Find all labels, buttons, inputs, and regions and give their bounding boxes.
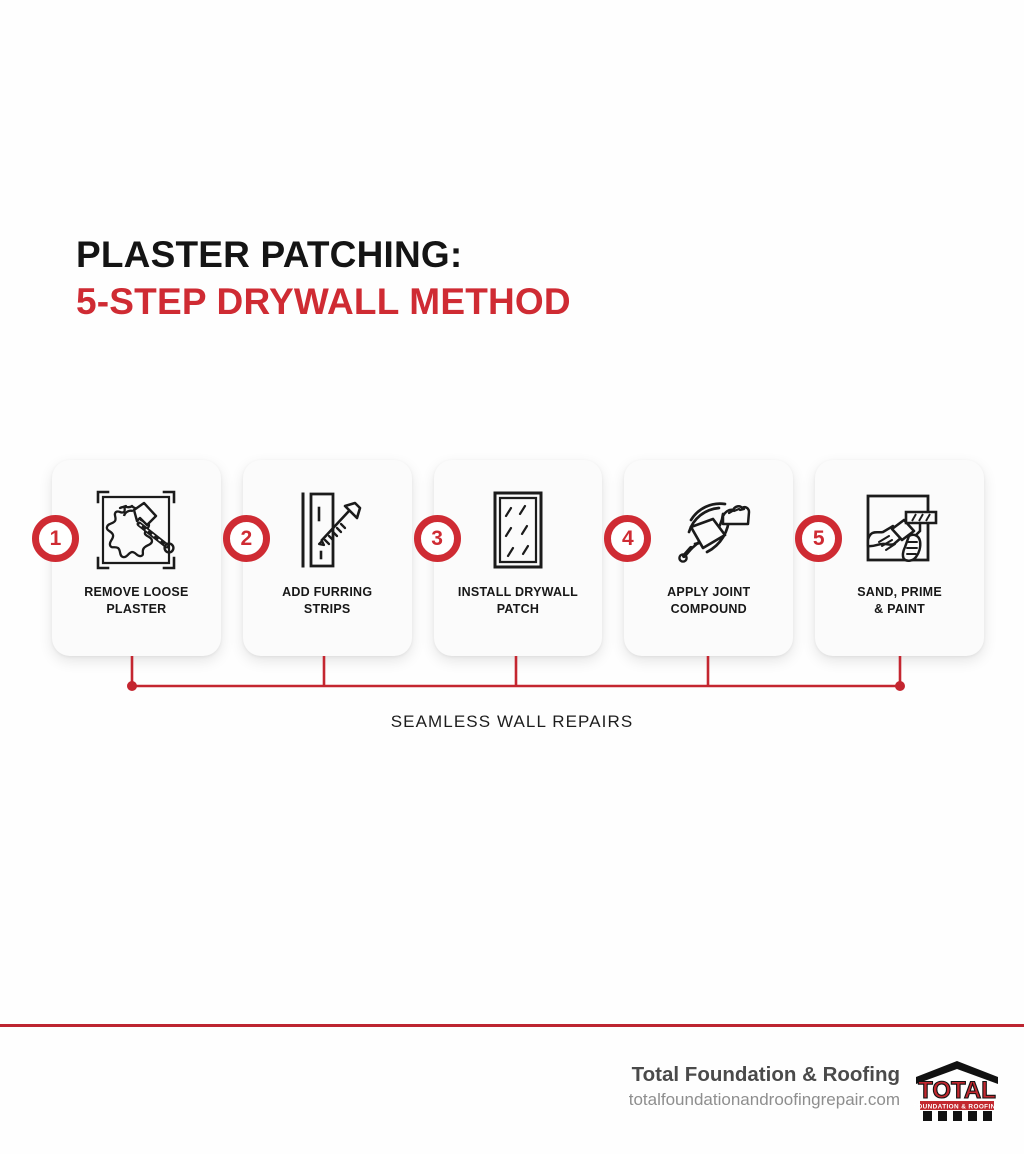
step-label-5: SAND, PRIME & PAINT (820, 584, 980, 618)
step-card-4[interactable]: APPLY JOINT COMPOUND 4 (624, 460, 793, 656)
svg-text:TOTAL: TOTAL (918, 1077, 996, 1104)
step-label-1: REMOVE LOOSE PLASTER (56, 584, 216, 618)
furring-strip-screw-icon (281, 484, 373, 576)
step-card-2[interactable]: ADD FURRING STRIPS 2 (243, 460, 412, 656)
steps-row: REMOVE LOOSE PLASTER 1 (52, 460, 984, 656)
infographic-page: PLASTER PATCHING: 5-STEP DRYWALL METHOD (0, 0, 1024, 1154)
trowel-spreading-icon (663, 484, 755, 576)
step-label-4: APPLY JOINT COMPOUND (629, 584, 789, 618)
title-line-2: 5-STEP DRYWALL METHOD (76, 278, 571, 326)
step-card-3[interactable]: INSTALL DRYWALL PATCH 3 (434, 460, 603, 656)
hammer-breaking-plaster-icon (90, 484, 182, 576)
step-badge-4: 4 (604, 515, 651, 562)
connector-line (52, 656, 984, 700)
title-line-1: PLASTER PATCHING: (76, 232, 571, 278)
footer-text: Total Foundation & Roofing totalfoundati… (629, 1058, 900, 1111)
step-card-1[interactable]: REMOVE LOOSE PLASTER 1 (52, 460, 221, 656)
step-badge-2: 2 (223, 515, 270, 562)
footer: Total Foundation & Roofing totalfoundati… (629, 1058, 1000, 1124)
footer-divider (0, 1024, 1024, 1027)
step-badge-5: 5 (795, 515, 842, 562)
step-label-2: ADD FURRING STRIPS (247, 584, 407, 618)
drywall-patch-panel-icon (472, 484, 564, 576)
step-badge-3: 3 (414, 515, 461, 562)
footer-website-url[interactable]: totalfoundationandroofingrepair.com (629, 1088, 900, 1111)
footer-brand-name: Total Foundation & Roofing (629, 1062, 900, 1088)
step-label-3: INSTALL DRYWALL PATCH (438, 584, 598, 618)
step-card-5[interactable]: SAND, PRIME & PAINT 5 (815, 460, 984, 656)
sanding-block-paint-roller-icon (854, 484, 946, 576)
page-title: PLASTER PATCHING: 5-STEP DRYWALL METHOD (76, 232, 571, 326)
step-badge-1: 1 (32, 515, 79, 562)
company-logo-icon: TOTAL FOUNDATION & ROOFING (914, 1058, 1000, 1124)
svg-text:FOUNDATION & ROOFING: FOUNDATION & ROOFING (914, 1103, 1000, 1110)
connector-caption: SEAMLESS WALL REPAIRS (0, 712, 1024, 732)
